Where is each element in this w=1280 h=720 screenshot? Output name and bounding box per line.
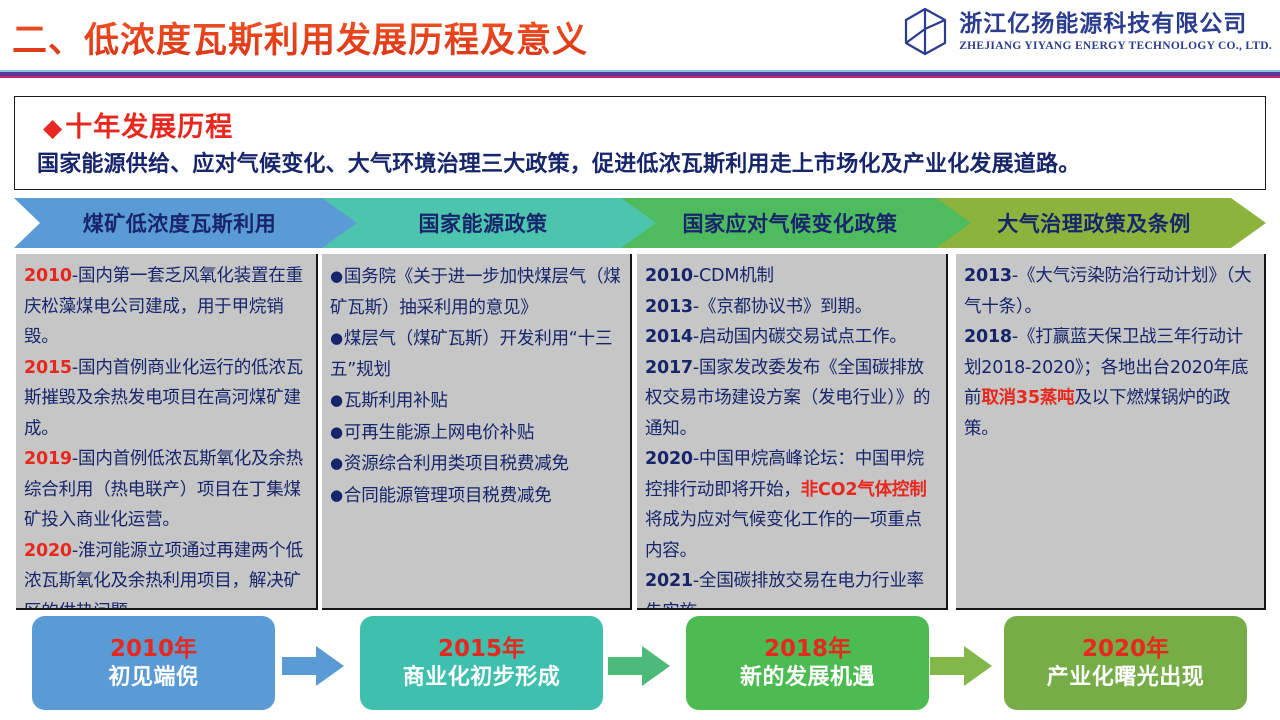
company-name-en: ZHEJIANG YIYANG ENERGY TECHNOLOGY CO., L…: [959, 40, 1272, 53]
year-label: 2017: [645, 358, 693, 378]
bullet-dot-icon: ●: [330, 391, 343, 409]
bullet-dot-icon: ●: [330, 267, 343, 285]
chevron-climate-policy[interactable]: 国家应对气候变化政策: [621, 198, 973, 248]
milestone-row: 2010年 初见端倪 2015年 商业化初步形成 2018年 新的发展机遇 20…: [0, 616, 1280, 720]
year-label: 2019: [24, 449, 72, 469]
company-name-cn: 浙江亿扬能源科技有限公司: [959, 12, 1272, 37]
bullet-dot-icon: ●: [330, 423, 343, 441]
year-label: 2010: [24, 266, 72, 286]
milestone-label: 商业化初步形成: [403, 665, 561, 690]
page-title: 二、低浓度瓦斯利用发展历程及意义: [12, 12, 588, 63]
year-label: 2010: [645, 266, 693, 286]
bullet-text: 国务院《关于进一步加快煤层气（煤矿瓦斯）抽采利用的意见》: [330, 267, 621, 318]
year-label: 2021: [645, 571, 693, 591]
entry-text-after: 将成为应对气候变化工作的一项重点内容。: [645, 510, 922, 561]
entry-2010-col1: 2010-国内第一套乏风氧化装置在重庆松藻煤电公司建成，用于甲烷销毁。: [24, 261, 309, 353]
bullet-text: 合同能源管理项目税费减免: [344, 486, 552, 506]
entry-2013-col4: 2013-《大气污染防治行动计划》（大气十条）。: [964, 261, 1257, 322]
bullet-text: 瓦斯利用补贴: [344, 391, 448, 411]
hexagon-cube-logo-icon: [901, 6, 949, 58]
bullet-text: 煤层气（煤矿瓦斯）开发利用“十三五”规划: [330, 329, 612, 380]
entry-text: -《京都协议书》到期。: [693, 297, 872, 317]
intro-subtitle: 国家能源供给、应对气候变化、大气环境治理三大政策，促进低浓瓦斯利用走上市场化及产…: [37, 146, 1080, 178]
entry-highlight: 非CO2气体控制: [801, 480, 927, 500]
bullet-dot-icon: ●: [330, 486, 343, 504]
chevron-energy-policy[interactable]: 国家能源政策: [322, 198, 658, 248]
bullet-text: 可再生能源上网电价补贴: [344, 423, 534, 443]
content-box-climate-policy: 2010-CDM机制 2013-《京都协议书》到期。 2014-启动国内碳交易试…: [637, 254, 948, 610]
intro-heading-text: 十年发展历程: [65, 112, 233, 143]
arrow-right-icon: [608, 646, 670, 686]
list-item: ●煤层气（煤矿瓦斯）开发利用“十三五”规划: [330, 323, 623, 385]
company-branding: 浙江亿扬能源科技有限公司 ZHEJIANG YIYANG ENERGY TECH…: [901, 6, 1272, 58]
bullet-dot-icon: ●: [330, 329, 343, 347]
year-label: 2013: [645, 297, 693, 317]
entry-2019-col1: 2019-国内首例低浓瓦斯氧化及余热综合利用（热电联产）项目在丁集煤矿投入商业化…: [24, 444, 309, 536]
milestone-2015[interactable]: 2015年 商业化初步形成: [360, 616, 603, 710]
bullet-text: 资源综合利用类项目税费减免: [344, 454, 569, 474]
chevron-label-1: 煤矿低浓度瓦斯利用: [83, 208, 291, 238]
milestone-2010[interactable]: 2010年 初见端倪: [32, 616, 275, 710]
entry-2017-col3: 2017-国家发改委发布《全国碳排放权交易市场建设方案（发电行业）》的通知。: [645, 353, 939, 445]
arrow-right-icon: [930, 646, 992, 686]
chevron-label-4: 大气治理政策及条例: [997, 208, 1205, 238]
milestone-year: 2020年: [1082, 636, 1169, 662]
header-divider: [0, 70, 1280, 78]
entry-2020-col1: 2020-淮河能源立项通过再建两个低浓瓦斯氧化及余热利用项目，解决矿区的供热问题…: [24, 536, 309, 611]
milestone-year: 2015年: [438, 636, 525, 662]
entry-2010-col3: 2010-CDM机制: [645, 261, 939, 292]
entry-text: -启动国内碳交易试点工作。: [693, 327, 907, 347]
arrow-right-icon: [282, 646, 344, 686]
bullet-dot-icon: ●: [330, 454, 343, 472]
year-label: 2015: [24, 358, 72, 378]
list-item: ●资源综合利用类项目税费减免: [330, 448, 623, 480]
content-box-air-policy: 2013-《大气污染防治行动计划》（大气十条）。 2018-《打赢蓝天保卫战三年…: [956, 254, 1266, 610]
chevron-air-policy[interactable]: 大气治理政策及条例: [936, 198, 1266, 248]
chevron-banner: 煤矿低浓度瓦斯利用 国家能源政策 国家应对气候变化政策 大气治理政策及条例: [14, 198, 1266, 248]
chevron-label-2: 国家能源政策: [419, 208, 562, 238]
chevron-label-3: 国家应对气候变化政策: [683, 208, 912, 238]
entry-highlight: 取消35蒸吨: [981, 388, 1074, 408]
list-item: ●瓦斯利用补贴: [330, 385, 623, 417]
entry-text: -CDM机制: [693, 266, 774, 286]
entry-2018-col4: 2018-《打赢蓝天保卫战三年行动计划2018-2020》；各地出台2020年底…: [964, 322, 1257, 444]
content-box-energy-policy: ●国务院《关于进一步加快煤层气（煤矿瓦斯）抽采利用的意见》 ●煤层气（煤矿瓦斯）…: [322, 254, 632, 610]
entry-2013-col3: 2013-《京都协议书》到期。: [645, 292, 939, 323]
year-label: 2013: [964, 266, 1012, 286]
milestone-year: 2018年: [764, 636, 851, 662]
milestone-label: 初见端倪: [108, 665, 198, 690]
entry-2021-col3: 2021-全国碳排放交易在电力行业率先实施。: [645, 566, 939, 610]
milestone-2020[interactable]: 2020年 产业化曙光出现: [1004, 616, 1247, 710]
list-item: ●可再生能源上网电价补贴: [330, 417, 623, 449]
divider-line-magenta: [0, 76, 1280, 78]
diamond-bullet-icon: ◆: [43, 113, 63, 142]
intro-panel: ◆十年发展历程 国家能源供给、应对气候变化、大气环境治理三大政策，促进低浓瓦斯利…: [14, 96, 1266, 190]
slide-root: 二、低浓度瓦斯利用发展历程及意义 浙江亿扬能源科技有限公司 ZHEJIANG Y…: [0, 0, 1280, 720]
entry-2014-col3: 2014-启动国内碳交易试点工作。: [645, 322, 939, 353]
milestone-year: 2010年: [110, 636, 197, 662]
content-box-coal-mine-gas: 2010-国内第一套乏风氧化装置在重庆松藻煤电公司建成，用于甲烷销毁。 2015…: [16, 254, 318, 610]
milestone-label: 新的发展机遇: [740, 665, 875, 690]
milestone-2018[interactable]: 2018年 新的发展机遇: [686, 616, 929, 710]
entry-2020-col3: 2020-中国甲烷高峰论坛：中国甲烷控排行动即将开始，非CO2气体控制将成为应对…: [645, 444, 939, 566]
year-label: 2018: [964, 327, 1012, 347]
chevron-coal-mine-gas[interactable]: 煤矿低浓度瓦斯利用: [14, 198, 359, 248]
year-label: 2014: [645, 327, 693, 347]
list-item: ●合同能源管理项目税费减免: [330, 480, 623, 512]
slide-header: 二、低浓度瓦斯利用发展历程及意义 浙江亿扬能源科技有限公司 ZHEJIANG Y…: [0, 0, 1280, 72]
milestone-label: 产业化曙光出现: [1047, 665, 1205, 690]
year-label: 2020: [645, 449, 693, 469]
list-item: ●国务院《关于进一步加快煤层气（煤矿瓦斯）抽采利用的意见》: [330, 261, 623, 323]
entry-2015-col1: 2015-国内首例商业化运行的低浓瓦斯摧毁及余热发电项目在高河煤矿建成。: [24, 353, 309, 445]
content-boxes: 2010-国内第一套乏风氧化装置在重庆松藻煤电公司建成，用于甲烷销毁。 2015…: [16, 254, 1266, 610]
year-label: 2020: [24, 541, 72, 561]
intro-heading: ◆十年发展历程: [43, 105, 233, 144]
